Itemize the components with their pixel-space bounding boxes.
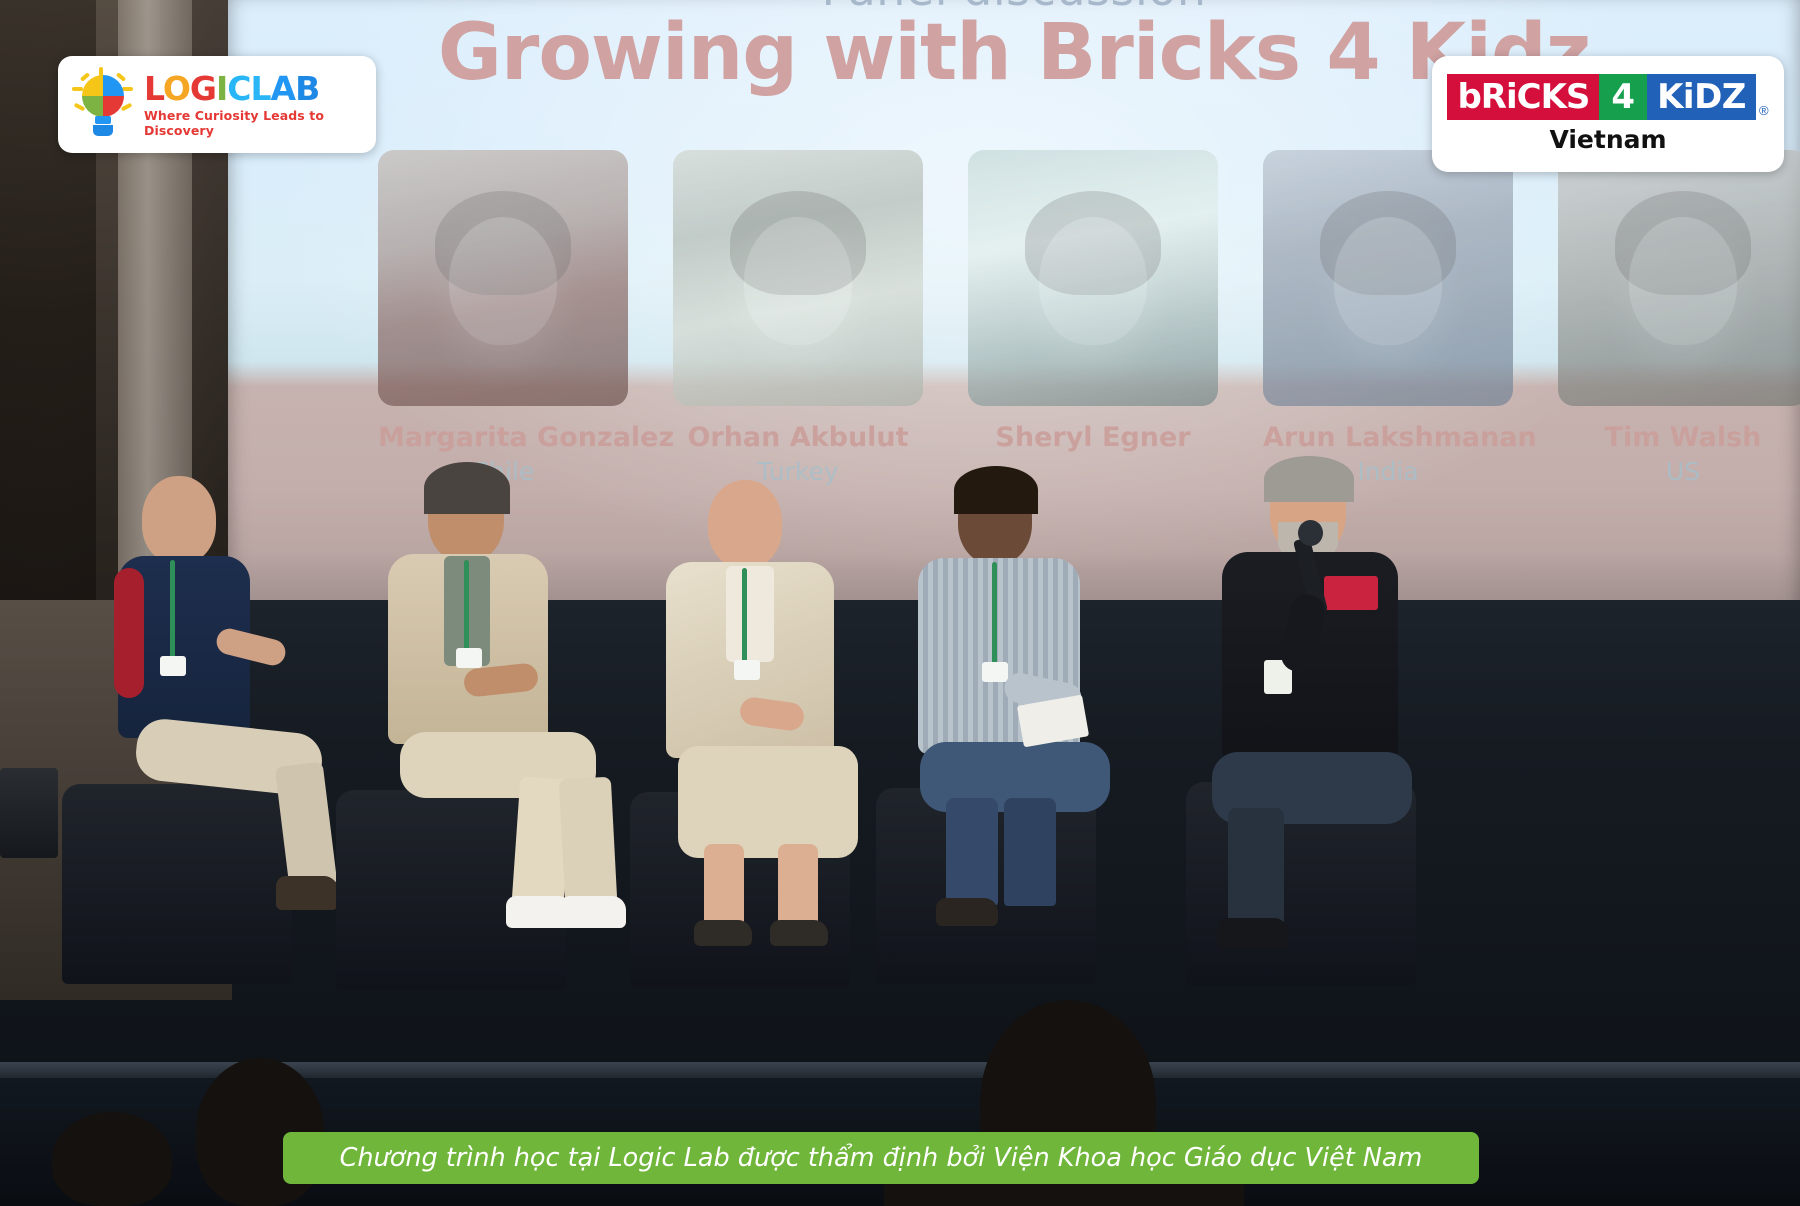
person-shoe bbox=[560, 896, 626, 928]
person-lower-leg bbox=[778, 844, 818, 928]
person-sleeve-accent bbox=[114, 568, 144, 698]
person-lanyard bbox=[742, 568, 747, 664]
person-head bbox=[708, 480, 782, 568]
panelist-photo bbox=[673, 150, 923, 406]
panelist-photo bbox=[968, 150, 1218, 406]
person-badge bbox=[982, 662, 1008, 682]
person-badge bbox=[456, 648, 482, 668]
photo-face-shape bbox=[1039, 217, 1147, 345]
b4k-country-label: Vietnam bbox=[1549, 125, 1666, 154]
person-lower-leg bbox=[1228, 808, 1284, 928]
photo-face-shape bbox=[449, 217, 557, 345]
person-lower-leg bbox=[704, 844, 744, 928]
b4k-word-bricks: bRiCKS bbox=[1447, 74, 1599, 120]
b4k-word-kidz: KiDZ bbox=[1647, 74, 1756, 120]
speaker-person-2 bbox=[372, 460, 622, 990]
logiclab-letter: G bbox=[190, 69, 216, 108]
registered-trademark-icon: ® bbox=[1759, 103, 1769, 118]
person-sandal bbox=[770, 920, 828, 946]
audience-head bbox=[52, 1112, 172, 1206]
b4k-kidz-text: KiDZ bbox=[1657, 77, 1746, 117]
b4k-word-four: 4 bbox=[1599, 74, 1647, 120]
person-shoe bbox=[276, 876, 338, 910]
logo-logiclab: LOGICLAB Where Curiosity Leads to Discov… bbox=[58, 56, 376, 153]
b4k-bricks-text: bRiCKS bbox=[1457, 77, 1589, 117]
person-lower-leg bbox=[275, 762, 338, 889]
bottom-caption-bar: Chương trình học tại Logic Lab được thẩm… bbox=[283, 1132, 1479, 1184]
b4k-four-text: 4 bbox=[1611, 77, 1635, 117]
b4k-brick-row: bRiCKS 4 KiDZ ® bbox=[1447, 74, 1768, 120]
speaker-person-3 bbox=[656, 468, 896, 988]
person-lanyard bbox=[992, 562, 997, 666]
logiclab-letter: B bbox=[295, 69, 319, 108]
person-lower-leg bbox=[1004, 798, 1056, 906]
person-sandal bbox=[694, 920, 752, 946]
microphone-head-icon bbox=[1298, 520, 1323, 546]
person-lanyard bbox=[464, 560, 469, 652]
speaker-person-1 bbox=[96, 464, 346, 984]
panelist-photo bbox=[378, 150, 628, 406]
speaker-person-4 bbox=[900, 464, 1150, 984]
logiclab-letter: I bbox=[216, 69, 227, 108]
logiclab-letter: L bbox=[251, 69, 271, 108]
panelist-photo bbox=[1558, 150, 1800, 406]
person-lower-leg bbox=[559, 777, 617, 904]
person-lower-leg bbox=[946, 798, 998, 906]
logo-bricks4kidz: bRiCKS 4 KiDZ ® Vietnam bbox=[1432, 56, 1784, 172]
logiclab-letters: LOGICLAB bbox=[144, 72, 362, 105]
logiclab-letter: L bbox=[144, 69, 163, 108]
photo-face-shape bbox=[744, 217, 852, 345]
panelist-photo bbox=[1263, 150, 1513, 406]
person-badge bbox=[734, 660, 760, 680]
person-inner-top bbox=[726, 566, 774, 662]
person-hair bbox=[954, 466, 1038, 514]
person-logo-patch bbox=[1324, 576, 1378, 610]
logiclab-tagline: Where Curiosity Leads to Discovery bbox=[144, 108, 362, 138]
person-head bbox=[142, 476, 216, 564]
lightbulb-brick-icon bbox=[72, 71, 134, 139]
photo-face-shape bbox=[1334, 217, 1442, 345]
person-lanyard bbox=[170, 560, 175, 660]
bottom-caption-text: Chương trình học tại Logic Lab được thẩm… bbox=[340, 1143, 1423, 1173]
panel-speakers-row bbox=[0, 420, 1800, 1080]
person-hair bbox=[424, 462, 510, 514]
photo-face-shape bbox=[1629, 217, 1737, 345]
person-shoe bbox=[1218, 918, 1288, 948]
logiclab-wordmark: LOGICLAB Where Curiosity Leads to Discov… bbox=[144, 72, 362, 138]
logiclab-letter: A bbox=[271, 69, 296, 108]
person-badge bbox=[160, 656, 186, 676]
person-sandal bbox=[936, 898, 998, 926]
person-legs bbox=[678, 746, 858, 858]
person-hair bbox=[1264, 456, 1354, 502]
screenshot-root: Panel discussion Growing with Bricks 4 K… bbox=[0, 0, 1800, 1206]
logiclab-letter: C bbox=[227, 69, 250, 108]
speaker-person-5 bbox=[1206, 456, 1466, 986]
logiclab-letter: O bbox=[163, 69, 190, 108]
